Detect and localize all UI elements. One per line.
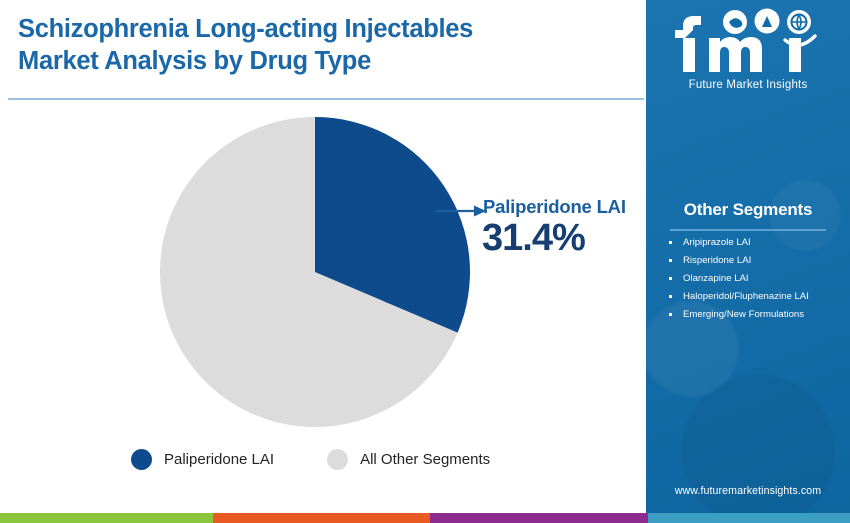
list-item[interactable]: Haloperidol/Fluphenazine LAI: [668, 292, 850, 302]
bullet-icon: [669, 259, 672, 262]
bullet-icon: [669, 241, 672, 244]
accent-bar-green: [0, 513, 213, 523]
callout-label: Paliperidone LAI: [483, 196, 626, 218]
list-item-label: Olanzapine LAI: [683, 273, 749, 284]
list-item-label: Risperidone LAI: [683, 255, 751, 266]
list-item[interactable]: Olanzapine LAI: [668, 274, 850, 284]
list-item-label: Haloperidol/Fluphenazine LAI: [683, 291, 809, 302]
callout-value: 31.4%: [482, 217, 585, 260]
legend-item-paliperidone-lai[interactable]: Paliperidone LAI: [131, 449, 274, 470]
website-url[interactable]: www.futuremarketinsights.com: [646, 485, 850, 497]
list-item-label: Aripiprazole LAI: [683, 237, 751, 248]
legend-label: Paliperidone LAI: [164, 451, 274, 468]
page-title-line-2: Market Analysis by Drug Type: [18, 46, 628, 78]
bullet-icon: [669, 313, 672, 316]
pie-chart-svg: [160, 117, 470, 427]
list-item-label: Emerging/New Formulations: [683, 309, 804, 320]
other-segments-divider: [670, 229, 826, 231]
list-item[interactable]: Aripiprazole LAI: [668, 238, 850, 248]
other-segments-list: Aripiprazole LAI Risperidone LAI Olanzap…: [668, 238, 850, 328]
fmi-logo[interactable]: Future Market Insights: [646, 8, 850, 96]
title-divider: [8, 98, 644, 100]
other-segments-heading: Other Segments: [646, 200, 850, 220]
accent-bar-orange: [213, 513, 430, 523]
logo-tagline: Future Market Insights: [646, 79, 850, 91]
legend-item-all-other-segments[interactable]: All Other Segments: [327, 449, 490, 470]
fmi-logo-icon: [663, 8, 833, 78]
legend-swatch-icon: [131, 449, 152, 470]
bullet-icon: [669, 277, 672, 280]
brand-sidebar: Future Market Insights Other Segments Ar…: [646, 0, 850, 513]
page-title: Schizophrenia Long-acting Injectables Ma…: [18, 14, 628, 78]
pie-chart: [160, 117, 470, 427]
legend-label: All Other Segments: [360, 451, 490, 468]
accent-bar-blue: [648, 513, 850, 523]
arrow-right-icon: [436, 204, 486, 218]
legend-swatch-icon: [327, 449, 348, 470]
accent-bar-purple: [430, 513, 648, 523]
callout-paliperidone: Paliperidone LAI 31.4%: [436, 196, 650, 276]
infographic-root: Schizophrenia Long-acting Injectables Ma…: [0, 0, 850, 523]
bullet-icon: [669, 295, 672, 298]
main-content-pane: Schizophrenia Long-acting Injectables Ma…: [0, 0, 646, 513]
list-item[interactable]: Emerging/New Formulations: [668, 310, 850, 320]
chart-legend: Paliperidone LAI All Other Segments: [131, 449, 543, 470]
list-item[interactable]: Risperidone LAI: [668, 256, 850, 266]
footer-accent-bars: [0, 513, 850, 523]
page-title-line-1: Schizophrenia Long-acting Injectables: [18, 14, 628, 46]
